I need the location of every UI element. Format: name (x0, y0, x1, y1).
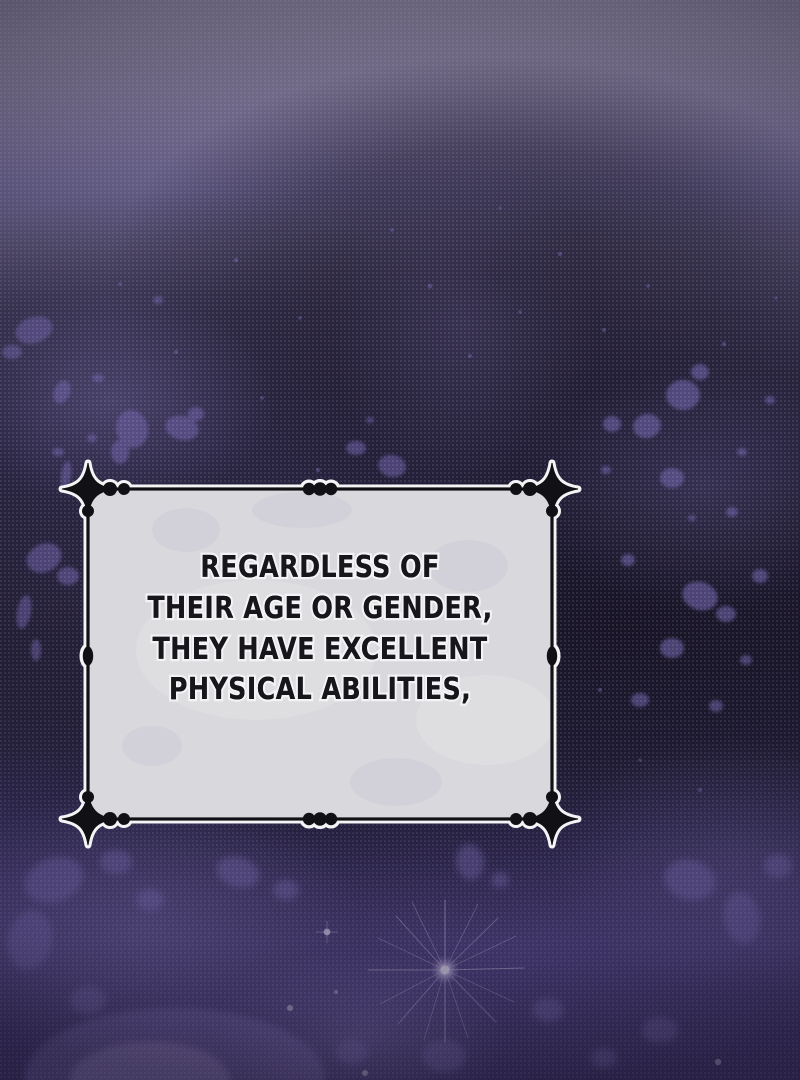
narration-box[interactable]: REGARDLESS OF THEIR AGE OR GENDER, THEY … (66, 470, 574, 838)
edge-ornament-left (83, 646, 93, 665)
comic-page: REGARDLESS OF THEIR AGE OR GENDER, THEY … (0, 0, 800, 1080)
edge-ornament-bottom (303, 812, 337, 826)
edge-ornament-top (303, 482, 337, 496)
edge-ornament-right (547, 646, 557, 665)
